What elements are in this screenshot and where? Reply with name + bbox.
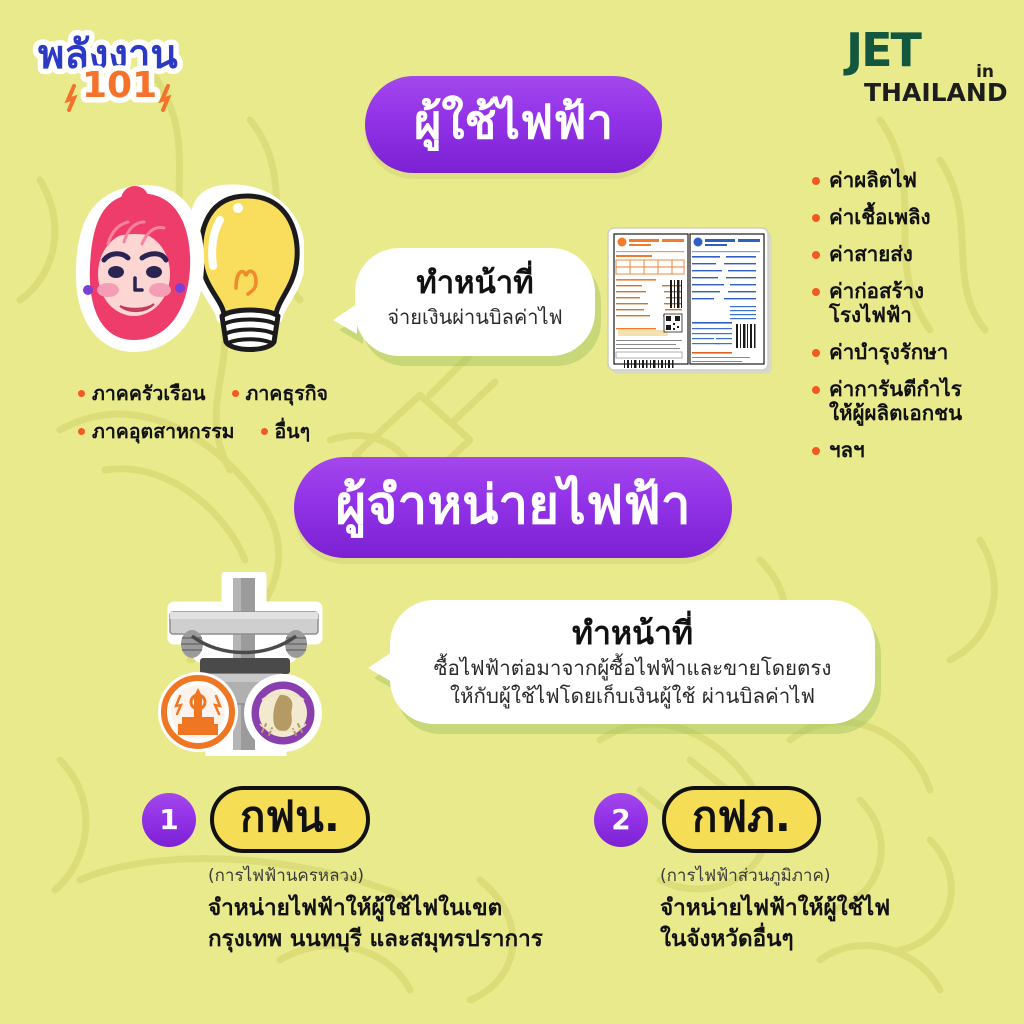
distributor-description: จำหน่ายไฟฟ้าให้ผู้ใช้ไฟ ในจังหวัดอื่นๆ — [660, 893, 994, 955]
user-role-bubble: ทำหน้าที่ จ่ายเงินผ่านบิลค่าไฟ — [355, 248, 595, 356]
number-badge: 2 — [594, 793, 648, 847]
number-badge: 1 — [142, 793, 196, 847]
list-item: ค่าผลิตไฟ — [812, 168, 1017, 192]
brand-logo: พลังงาน พลังงาน 101 101 — [30, 24, 220, 114]
person-illustration — [82, 186, 198, 346]
distributor-full-name: (การไฟฟ้าส่วนภูมิภาค) — [660, 862, 994, 889]
user-segment-label: ภาคครัวเรือน — [92, 378, 206, 409]
bullet-dot-icon — [78, 390, 85, 397]
brand-logo-sub: 101 — [82, 65, 157, 106]
bullet-dot-icon — [812, 177, 820, 185]
bullet-dot-icon — [812, 251, 820, 259]
cost-components-list: ค่าผลิตไฟ ค่าเชื้อเพลิง ค่าสายส่ง ค่าก่อ… — [812, 168, 1017, 475]
jet-logo-country: THAILAND — [864, 78, 1008, 107]
jet-in-thailand-logo: JET in THAILAND — [846, 28, 996, 108]
distributor-description-line1: จำหน่ายไฟฟ้าให้ผู้ใช้ไฟในเขต — [208, 893, 562, 924]
list-item: ภาคธุรกิจ — [232, 378, 328, 409]
distributor-description-line2: ในจังหวัดอื่นๆ — [660, 924, 994, 955]
user-illustration-group — [72, 182, 304, 374]
distributor-entry-2-head: 2 กฟภ. — [594, 786, 994, 853]
distributor-entry-2: 2 กฟภ. (การไฟฟ้าส่วนภูมิภาค) จำหน่ายไฟฟ้… — [594, 786, 994, 955]
user-segments-row-2: ภาคอุตสาหกรรม อื่นๆ — [78, 416, 408, 447]
cost-item-label: ค่าสายส่ง — [829, 242, 913, 266]
user-segment-label: อื่นๆ — [275, 416, 311, 447]
jet-logo-word: JET — [846, 28, 996, 72]
cost-item-label: ค่าบำรุงรักษา — [829, 340, 948, 364]
bullet-dot-icon — [78, 428, 85, 435]
lightning-bolt-right-icon — [162, 86, 168, 110]
list-item: ค่าสายส่ง — [812, 242, 1017, 266]
distributor-full-name: (การไฟฟ้านครหลวง) — [208, 862, 562, 889]
pea-bill-face — [690, 234, 764, 364]
distributor-entry-1-head: 1 กฟน. — [142, 786, 562, 853]
pea-seal-icon — [244, 674, 322, 752]
distributor-role-title: ทำหน้าที่ — [390, 612, 875, 654]
distributor-role-bubble: ทำหน้าที่ ซื้อไฟฟ้าต่อมาจากผู้ซื้อไฟฟ้าแ… — [390, 600, 875, 724]
bullet-dot-icon — [232, 390, 239, 397]
utility-pole-illustration — [140, 572, 362, 756]
distributor-entry-1: 1 กฟน. (การไฟฟ้านครหลวง) จำหน่ายไฟฟ้าให้… — [142, 786, 562, 955]
list-item: ภาคครัวเรือน — [78, 378, 206, 409]
distributor-description: จำหน่ายไฟฟ้าให้ผู้ใช้ไฟในเขต กรุงเทพ นนท… — [208, 893, 562, 955]
cost-item-label: ค่าก่อสร้าง โรงไฟฟ้า — [829, 279, 924, 327]
list-item: ค่าเชื้อเพลิง — [812, 205, 1017, 229]
distributor-abbreviation: กฟภ. — [662, 786, 821, 853]
bullet-dot-icon — [261, 428, 268, 435]
user-segments-row-1: ภาคครัวเรือน ภาคธุรกิจ — [78, 378, 408, 409]
mea-bill-face — [614, 234, 688, 368]
list-item: ค่าการันตีกำไร ให้ผู้ผลิตเอกชน — [812, 377, 1017, 425]
header-electricity-user-label: ผู้ใช้ไฟฟ้า — [414, 84, 613, 159]
bullet-dot-icon — [812, 288, 820, 296]
electricity-bill-illustration — [604, 218, 780, 396]
cost-item-label: ค่าการันตีกำไร ให้ผู้ผลิตเอกชน — [829, 377, 962, 425]
infographic-canvas: พลังงาน พลังงาน 101 101 JET in THAILAND … — [0, 0, 1024, 1024]
cost-item-label: ฯลฯ — [829, 438, 865, 462]
bullet-dot-icon — [812, 214, 820, 222]
list-item: ค่าบำรุงรักษา — [812, 340, 1017, 364]
distributor-description-line2: กรุงเทพ นนทบุรี และสมุทรปราการ — [208, 924, 562, 955]
user-role-title: ทำหน้าที่ — [355, 264, 595, 302]
header-electricity-distributor: ผู้จำหน่ายไฟฟ้า — [294, 457, 732, 558]
distributor-role-body-line1: ซื้อไฟฟ้าต่อมาจากผู้ซื้อไฟฟ้าและขายโดยตร… — [390, 654, 875, 682]
user-segments-list: ภาคครัวเรือน ภาคธุรกิจ ภาคอุตสาหกรรม อื่… — [78, 378, 408, 454]
header-electricity-distributor-label: ผู้จำหน่ายไฟฟ้า — [335, 463, 690, 547]
cost-item-label: ค่าเชื้อเพลิง — [829, 205, 931, 229]
distributor-role-body-line2: ให้กับผู้ใช้ไฟโดยเก็บเงินผู้ใช้ ผ่านบิลค… — [390, 682, 875, 710]
mea-seal-icon — [158, 672, 238, 752]
user-role-body: จ่ายเงินผ่านบิลค่าไฟ — [355, 302, 595, 332]
user-segment-label: ภาคธุรกิจ — [246, 378, 328, 409]
cost-item-label: ค่าผลิตไฟ — [829, 168, 917, 192]
user-segment-label: ภาคอุตสาหกรรม — [92, 416, 235, 447]
bullet-dot-icon — [812, 349, 820, 357]
distributor-description-line1: จำหน่ายไฟฟ้าให้ผู้ใช้ไฟ — [660, 893, 994, 924]
bullet-dot-icon — [812, 447, 820, 455]
list-item: ค่าก่อสร้าง โรงไฟฟ้า — [812, 279, 1017, 327]
list-item: ภาคอุตสาหกรรม — [78, 416, 235, 447]
lightbulb-illustration — [196, 190, 300, 350]
header-electricity-user: ผู้ใช้ไฟฟ้า — [365, 76, 662, 173]
lightning-bolt-left-icon — [68, 86, 74, 110]
list-item: อื่นๆ — [261, 416, 311, 447]
distributor-abbreviation: กฟน. — [210, 786, 370, 853]
bullet-dot-icon — [812, 386, 820, 394]
list-item: ฯลฯ — [812, 438, 1017, 462]
